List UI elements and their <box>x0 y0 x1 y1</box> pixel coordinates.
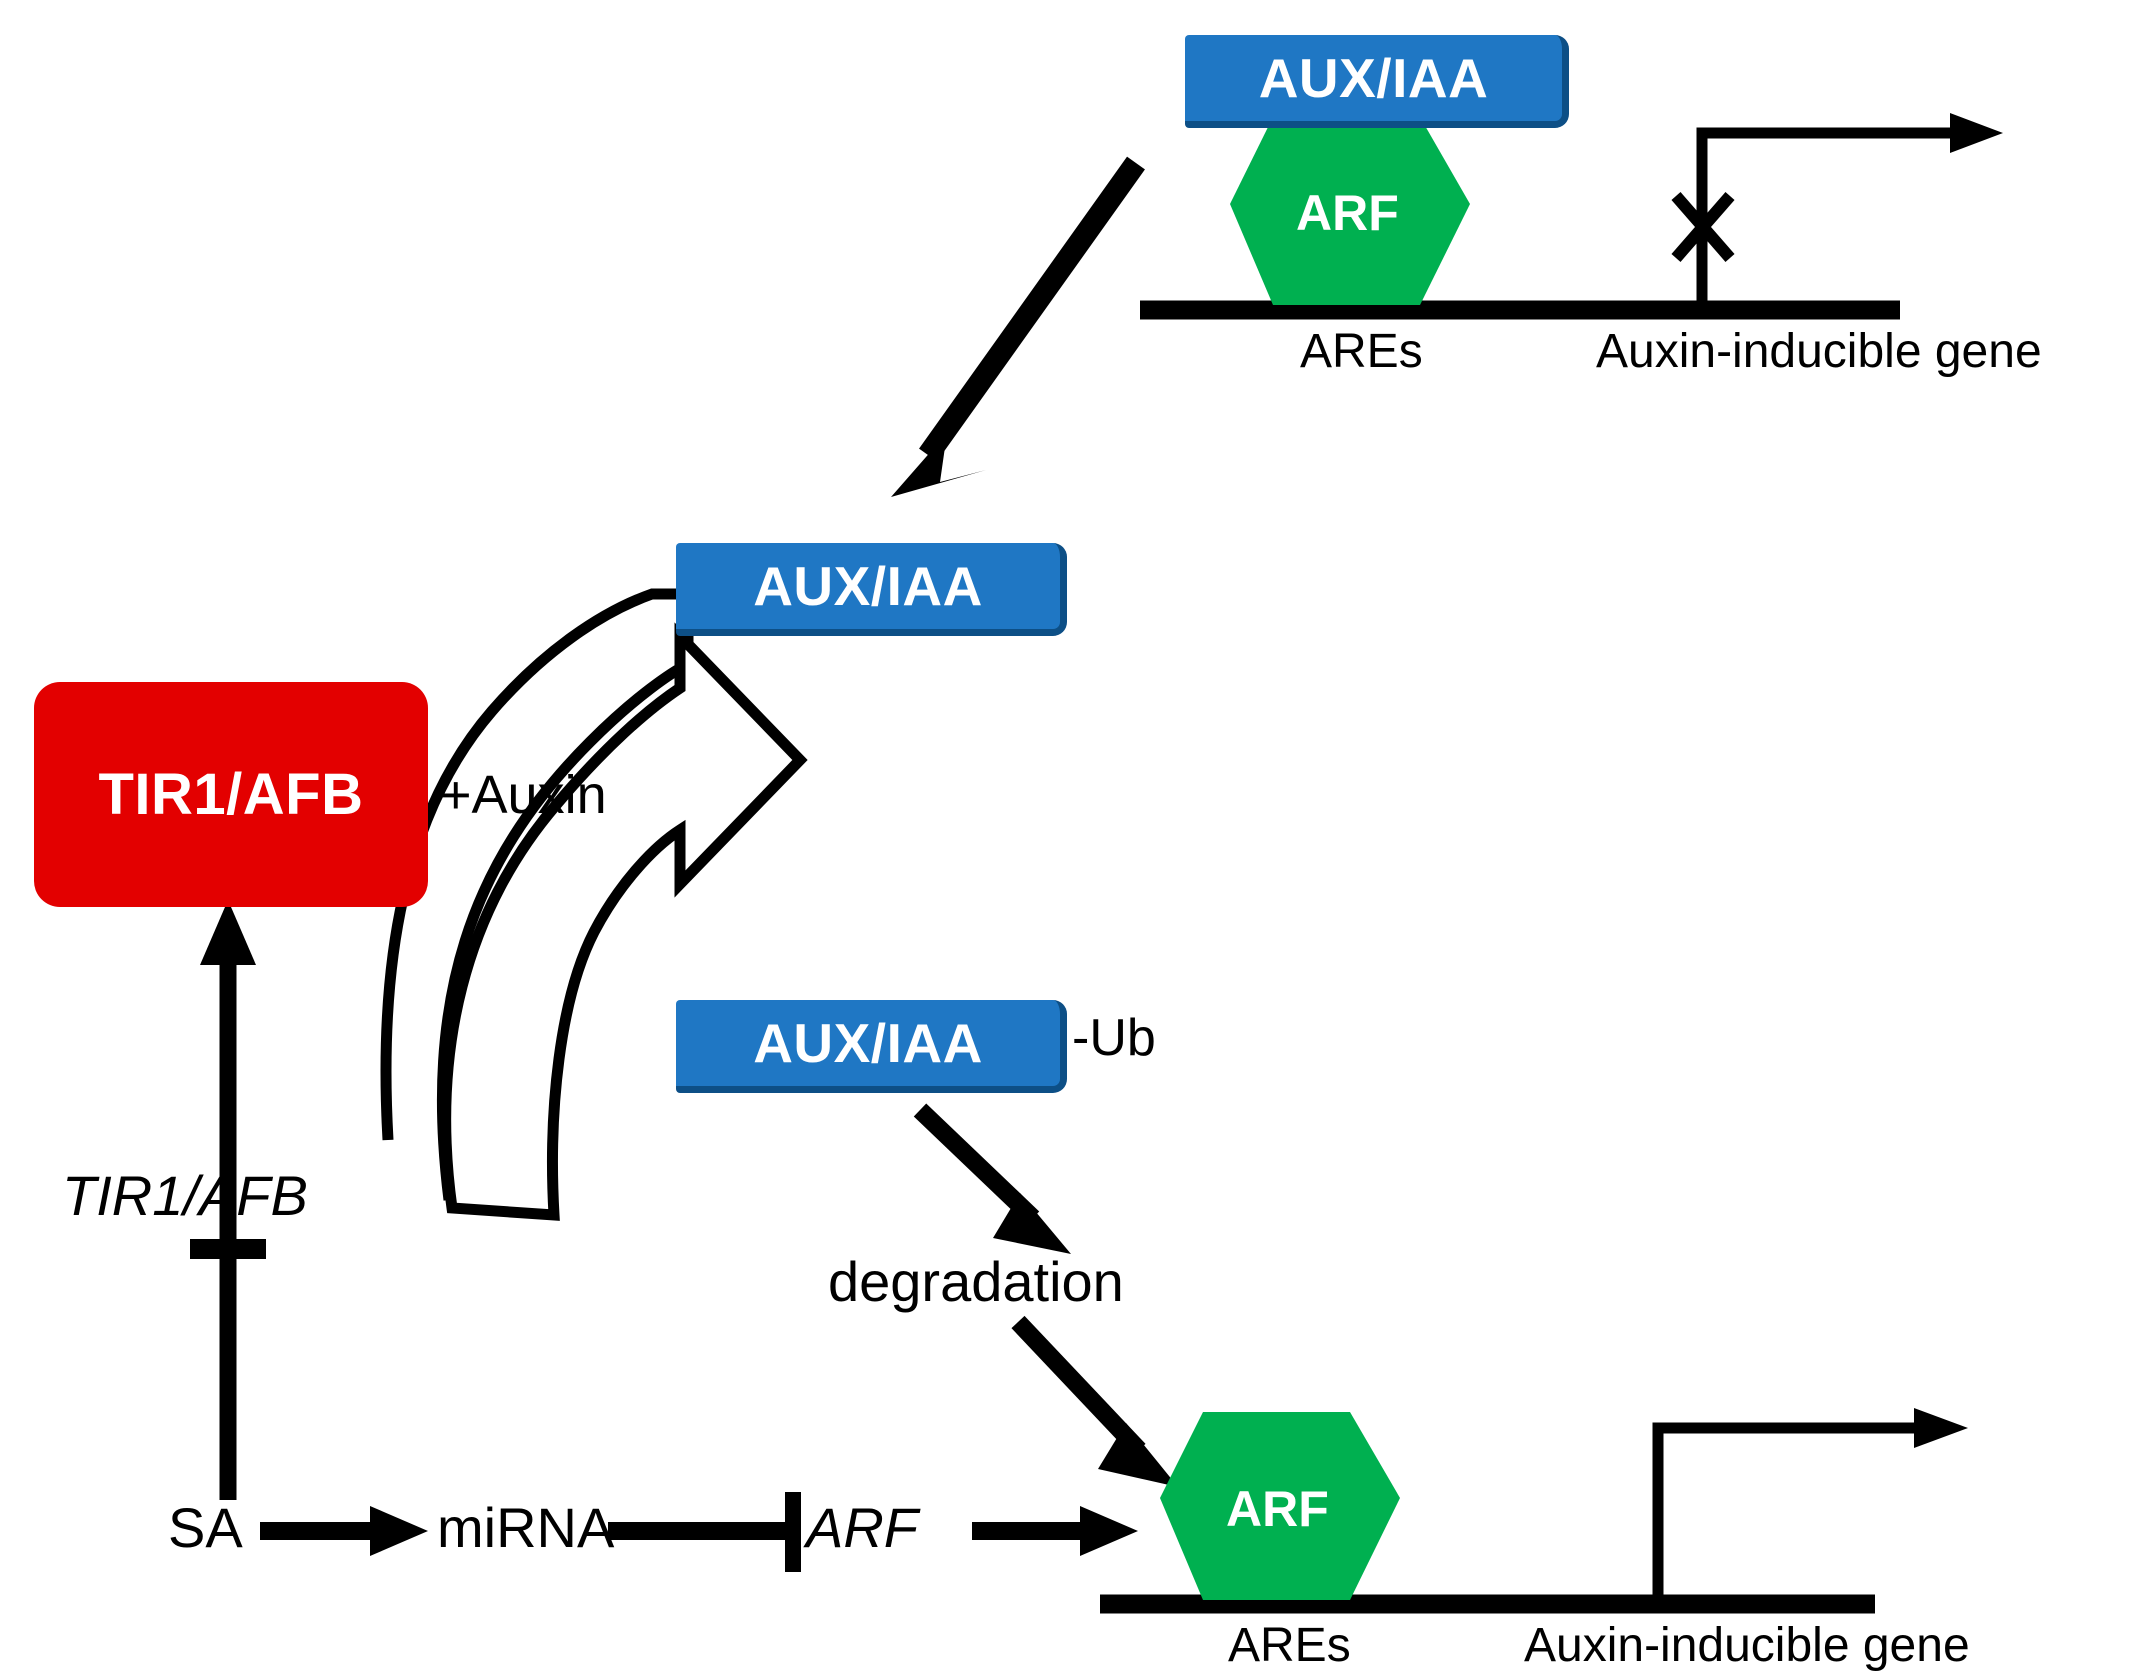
arrow-to-degradation <box>920 1110 1071 1254</box>
label-arf-gene: ARF <box>806 1500 918 1556</box>
label-degradation: degradation <box>828 1254 1124 1310</box>
label-ares-top: AREs <box>1300 328 1423 376</box>
curved-open-block-arrow <box>386 594 800 1280</box>
label-sa: SA <box>168 1500 243 1556</box>
node-aux-iaa-top[interactable]: AUX/IAA <box>1185 35 1569 128</box>
label-arf-top: ARF <box>1296 188 1399 238</box>
label-ares-bottom: AREs <box>1228 1622 1351 1670</box>
label-ub-tag: -Ub <box>1072 1012 1156 1064</box>
label-tir1-afb-gene: TIR1/AFB <box>62 1168 308 1224</box>
label-arf-bottom: ARF <box>1226 1484 1329 1534</box>
arrow-degradation-to-arf <box>1018 1322 1178 1487</box>
bottom-promoter-arrow <box>1658 1408 1968 1604</box>
arrow-sa-to-mirna <box>260 1506 428 1556</box>
pathway-diagram: AUX/IAA ARF AREs Auxin-inducible gene AU… <box>0 0 2138 1675</box>
arrow-auxiaa-release <box>891 163 1136 497</box>
label-auxin-inducible-gene-bottom: Auxin-inducible gene <box>1524 1622 1970 1670</box>
label-mirna: miRNA <box>437 1500 614 1556</box>
label-plus-auxin: +Auxin <box>440 768 607 822</box>
top-promoter-arrow <box>1702 113 2003 310</box>
arrow-arf-to-hexagon <box>972 1506 1138 1556</box>
inhibition-mirna-to-arf <box>608 1492 793 1572</box>
node-tir1-afb[interactable]: TIR1/AFB <box>34 682 428 907</box>
node-aux-iaa-middle[interactable]: AUX/IAA <box>676 543 1067 636</box>
node-aux-iaa-ub[interactable]: AUX/IAA <box>676 1000 1067 1093</box>
label-auxin-inducible-gene-top: Auxin-inducible gene <box>1596 328 2042 376</box>
